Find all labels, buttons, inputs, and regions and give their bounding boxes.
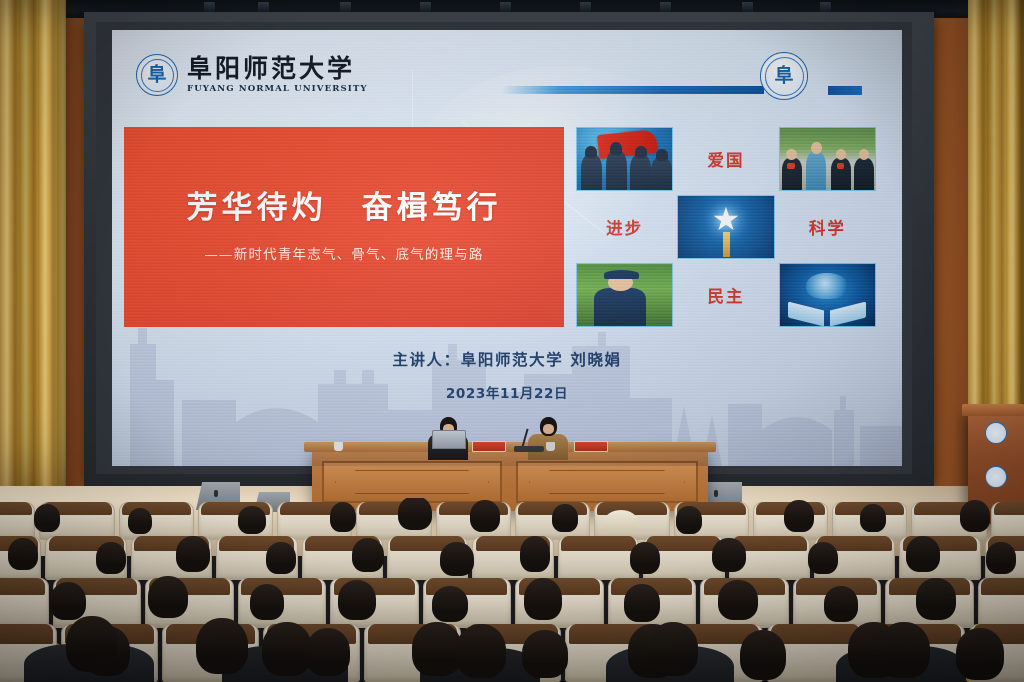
name-plate (472, 441, 506, 452)
lectern-top-surface (962, 404, 1024, 416)
name-plate (574, 441, 608, 452)
grid-photo-police-officer (576, 263, 673, 327)
audience-head-with-cap (604, 510, 638, 534)
header-accent-bar-long (502, 86, 764, 94)
seal-mark: 阜 (774, 67, 793, 86)
slide-logo-right: 阜 (760, 52, 808, 100)
stage-curtain-left (0, 0, 66, 500)
university-emblem-icon (985, 422, 1007, 444)
grid-label-kexue: 科学 (779, 195, 876, 259)
grid-photo-digital-brain-book (779, 263, 876, 327)
university-seal-icon: 阜 (136, 54, 178, 96)
audience-row (0, 536, 1024, 580)
laptop (432, 430, 466, 449)
lecture-hall-scene: 阜 阜阳师范大学 FUYANG NORMAL UNIVERSITY 阜 芳华待灼… (0, 0, 1024, 682)
header-accent-bar-short (828, 86, 862, 95)
table-front-panel (322, 461, 502, 503)
slide-presenter-line: 主讲人：阜阳师范大学 刘晓娟 (112, 348, 902, 370)
grid-photo-star-trophy: ★ (677, 195, 774, 259)
grid-label-aiguo: 爱国 (677, 127, 774, 191)
presentation-slide: 阜 阜阳师范大学 FUYANG NORMAL UNIVERSITY 阜 芳华待灼… (112, 30, 902, 466)
university-name-en: FUYANG NORMAL UNIVERSITY (187, 84, 368, 94)
water-cup (546, 442, 555, 451)
slide-date: 2023年11月22日 (112, 382, 902, 402)
table-front-panel (516, 461, 698, 503)
slide-subtitle: ——新时代青年志气、骨气、底气的理与路 (124, 243, 564, 263)
grid-label-minzhu: 民主 (677, 263, 774, 327)
star-icon: ★ (712, 203, 741, 235)
grid-label-jinbu: 进步 (576, 195, 673, 259)
core-values-grid: 爱国 进步 ★ 科学 (576, 127, 876, 327)
seal-mark: 阜 (147, 66, 166, 85)
slide-title: 芳华待灼 奋楫笃行 (124, 182, 564, 227)
water-cup (334, 442, 343, 451)
university-name-cn: 阜阳师范大学 (187, 56, 368, 82)
university-seal-icon: 阜 (760, 52, 808, 100)
table-desk-items (312, 432, 708, 454)
grid-photo-teacher-students (779, 127, 876, 191)
university-emblem-icon (985, 466, 1007, 488)
slide-logo-left: 阜 阜阳师范大学 FUYANG NORMAL UNIVERSITY (136, 54, 368, 96)
desk-accessory (514, 446, 544, 452)
slide-title-block: 芳华待灼 奋楫笃行 ——新时代青年志气、骨气、底气的理与路 (124, 127, 564, 327)
grid-photo-armed-police (576, 127, 673, 191)
university-name-block: 阜阳师范大学 FUYANG NORMAL UNIVERSITY (187, 56, 368, 94)
audience-seating (0, 498, 1024, 682)
